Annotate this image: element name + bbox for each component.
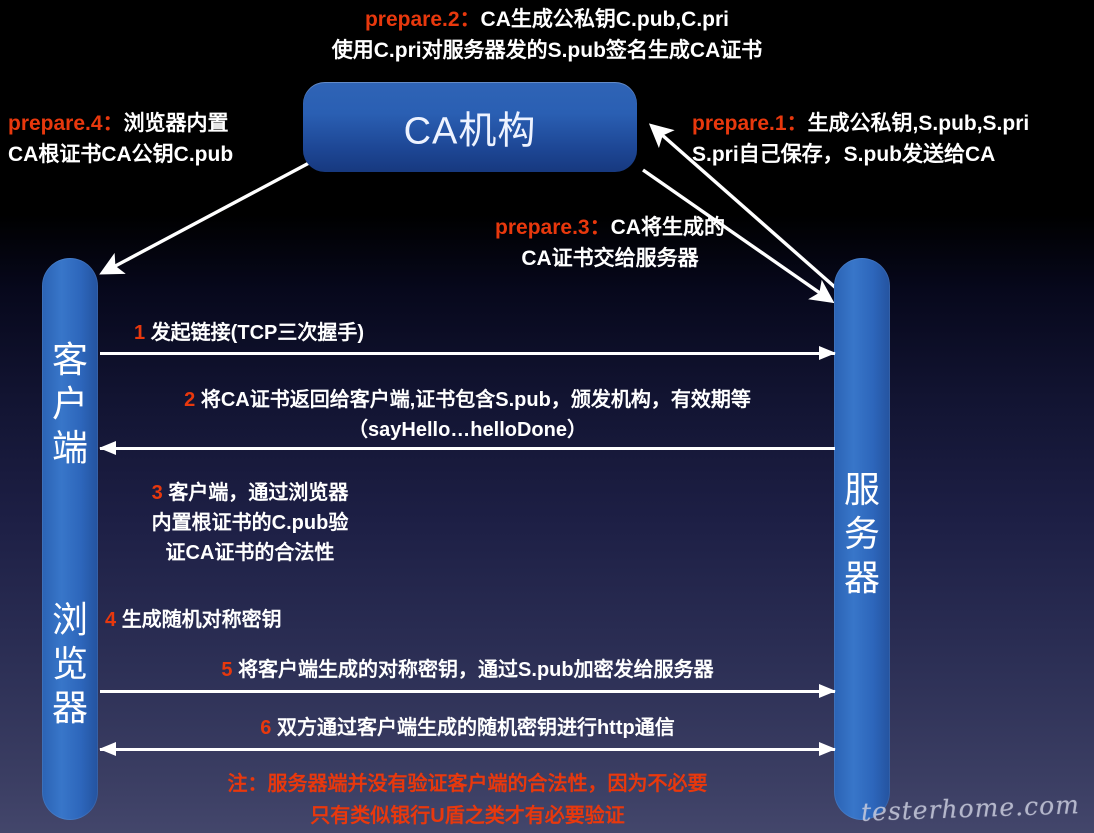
client-char-1: 户 bbox=[42, 382, 98, 426]
step-1-label: 1 发起链接(TCP三次握手) bbox=[134, 318, 364, 348]
step-6-label: 6 双方通过客户端生成的随机密钥进行http通信 bbox=[100, 713, 835, 743]
prepare-2-tag: prepare.2： bbox=[365, 8, 481, 31]
arrow-step-1 bbox=[100, 346, 835, 360]
client-char-3: 浏 bbox=[42, 598, 98, 642]
prepare-3-block: prepare.3：CA将生成的 CA证书交给服务器 bbox=[430, 212, 790, 274]
node-client-label-bottom: 浏 览 器 bbox=[42, 598, 98, 730]
step-6-number: 6 bbox=[260, 717, 271, 739]
node-server[interactable]: 服 务 器 bbox=[834, 258, 890, 820]
server-char-1: 务 bbox=[834, 512, 890, 556]
node-client-browser[interactable]: 客 户 端 浏 览 器 bbox=[42, 258, 98, 820]
step-3-number: 3 bbox=[152, 482, 163, 504]
arrow-line bbox=[100, 352, 835, 355]
prepare-2-text1: CA生成公私钥C.pub,C.pri bbox=[481, 8, 729, 31]
arrow-step-6 bbox=[100, 742, 835, 756]
prepare-4-block: prepare.4：浏览器内置 CA根证书CA公钥C.pub bbox=[8, 108, 233, 170]
client-char-0: 客 bbox=[42, 338, 98, 382]
arrow-head-right bbox=[819, 742, 836, 756]
step-3-line3: 证CA证书的合法性 bbox=[100, 538, 400, 568]
prepare-1-line1: prepare.1：生成公私钥,S.pub,S.pri bbox=[692, 108, 1029, 139]
footer-note: 注：服务器端并没有验证客户端的合法性，因为不必要 只有类似银行U盾之类才有必要验… bbox=[100, 768, 835, 832]
prepare-1-block: prepare.1：生成公私钥,S.pub,S.pri S.pri自己保存，S.… bbox=[692, 108, 1029, 170]
prepare-3-line1: prepare.3：CA将生成的 bbox=[430, 212, 790, 243]
prepare-3-tag: prepare.3： bbox=[495, 216, 611, 239]
node-ca-label: CA机构 bbox=[303, 100, 637, 155]
step-4-label: 4 生成随机对称密钥 bbox=[105, 605, 282, 635]
prepare-4-line1: prepare.4：浏览器内置 bbox=[8, 108, 233, 139]
footer-note-line2: 只有类似银行U盾之类才有必要验证 bbox=[100, 800, 835, 832]
step-2-text: 将CA证书返回给客户端,证书包含S.pub，颁发机构，有效期等 bbox=[201, 389, 751, 411]
step-5-text: 将客户端生成的对称密钥，通过S.pub加密发给服务器 bbox=[238, 659, 714, 681]
prepare-3-line2: CA证书交给服务器 bbox=[430, 243, 790, 274]
node-ca-authority[interactable]: CA机构 bbox=[303, 82, 637, 172]
arrow-head-left bbox=[99, 441, 116, 455]
arrow-head-right bbox=[819, 684, 836, 698]
step-6-text: 双方通过客户端生成的随机密钥进行http通信 bbox=[277, 717, 675, 739]
step-5-label: 5 将客户端生成的对称密钥，通过S.pub加密发给服务器 bbox=[100, 655, 835, 685]
footer-note-line1: 注：服务器端并没有验证客户端的合法性，因为不必要 bbox=[100, 768, 835, 800]
node-server-label: 服 务 器 bbox=[834, 468, 890, 600]
prepare-1-text1: 生成公私钥,S.pub,S.pri bbox=[808, 112, 1030, 135]
arrow-line bbox=[100, 447, 835, 450]
step-2-number: 2 bbox=[184, 389, 195, 411]
step-1-number: 1 bbox=[134, 322, 145, 344]
diagram-canvas: prepare.2：CA生成公私钥C.pub,C.pri 使用C.pri对服务器… bbox=[0, 0, 1094, 833]
step-3-line2: 内置根证书的C.pub验 bbox=[100, 508, 400, 538]
watermark-testerhome: testerhome.com bbox=[861, 790, 1081, 827]
prepare-2-line2: 使用C.pri对服务器发的S.pub签名生成CA证书 bbox=[0, 35, 1094, 66]
client-char-5: 器 bbox=[42, 686, 98, 730]
step-3-line1: 3 客户端，通过浏览器 bbox=[100, 478, 400, 508]
step-3-text: 客户端，通过浏览器 bbox=[168, 482, 348, 504]
step-2-line1: 2 将CA证书返回给客户端,证书包含S.pub，颁发机构，有效期等 bbox=[100, 385, 835, 415]
arrow-step-5 bbox=[100, 684, 835, 698]
arrow-line bbox=[100, 748, 835, 751]
prepare-4-text1: 浏览器内置 bbox=[124, 112, 229, 135]
prepare-4-tag: prepare.4： bbox=[8, 112, 124, 135]
step-4-number: 4 bbox=[105, 609, 116, 631]
step-1-text: 发起链接(TCP三次握手) bbox=[151, 322, 364, 344]
client-char-4: 览 bbox=[42, 642, 98, 686]
step-3-label: 3 客户端，通过浏览器 内置根证书的C.pub验 证CA证书的合法性 bbox=[100, 478, 400, 568]
server-char-2: 器 bbox=[834, 556, 890, 600]
client-char-2: 端 bbox=[42, 426, 98, 470]
prepare-4-line2: CA根证书CA公钥C.pub bbox=[8, 139, 233, 170]
prepare-2-block: prepare.2：CA生成公私钥C.pub,C.pri 使用C.pri对服务器… bbox=[0, 4, 1094, 66]
step-2-label: 2 将CA证书返回给客户端,证书包含S.pub，颁发机构，有效期等 （sayHe… bbox=[100, 385, 835, 445]
arrow-head-left bbox=[99, 742, 116, 756]
arrow-ca-to-client bbox=[104, 163, 309, 272]
server-char-0: 服 bbox=[834, 468, 890, 512]
arrow-line bbox=[100, 690, 835, 693]
prepare-1-tag: prepare.1： bbox=[692, 112, 808, 135]
prepare-2-line1: prepare.2：CA生成公私钥C.pub,C.pri bbox=[0, 4, 1094, 35]
step-4-text: 生成随机对称密钥 bbox=[122, 609, 282, 631]
arrow-step-2 bbox=[100, 441, 835, 455]
prepare-3-text1: CA将生成的 bbox=[611, 216, 725, 239]
prepare-1-line2: S.pri自己保存，S.pub发送给CA bbox=[692, 139, 1029, 170]
node-client-label-top: 客 户 端 bbox=[42, 338, 98, 470]
arrow-head-right bbox=[819, 346, 836, 360]
step-5-number: 5 bbox=[221, 659, 232, 681]
